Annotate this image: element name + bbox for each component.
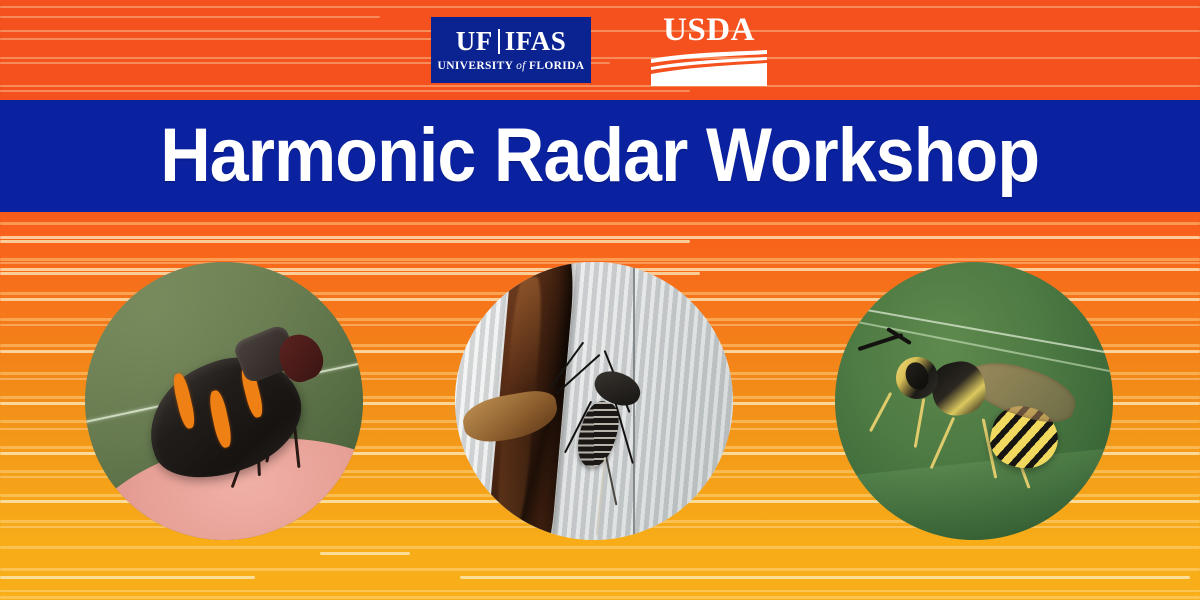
uf-tagline-post: FLORIDA	[526, 60, 585, 72]
title-bar: Harmonic Radar Workshop	[0, 100, 1200, 212]
ifas-mark: IFAS	[505, 28, 567, 55]
photo-wasp	[835, 262, 1113, 540]
logo-band: UF IFAS UNIVERSITY of FLORIDA USDA	[0, 0, 1200, 100]
uf-ifas-logo: UF IFAS UNIVERSITY of FLORIDA	[431, 17, 591, 83]
event-poster: UF IFAS UNIVERSITY of FLORIDA USDA Harmo…	[0, 0, 1200, 600]
uf-tagline-of: of	[516, 60, 526, 72]
spittlebug-scene	[85, 262, 363, 540]
uf-mark: UF	[456, 28, 493, 55]
wasp-scene	[835, 262, 1113, 540]
photo-spittlebug	[85, 262, 363, 540]
photo-mosquito	[455, 262, 733, 540]
uf-ifas-wordmark: UF IFAS	[456, 28, 567, 55]
uf-tagline: UNIVERSITY of FLORIDA	[438, 61, 585, 73]
usda-wordmark: USDA	[663, 14, 755, 47]
mosquito-scene	[455, 262, 733, 540]
page-title: Harmonic Radar Workshop	[161, 118, 1040, 194]
uf-tagline-pre: UNIVERSITY	[438, 60, 517, 72]
uf-divider-bar	[498, 29, 500, 54]
usda-landscape-icon	[649, 50, 769, 86]
photo-row	[0, 212, 1200, 600]
usda-logo: USDA	[649, 14, 769, 86]
